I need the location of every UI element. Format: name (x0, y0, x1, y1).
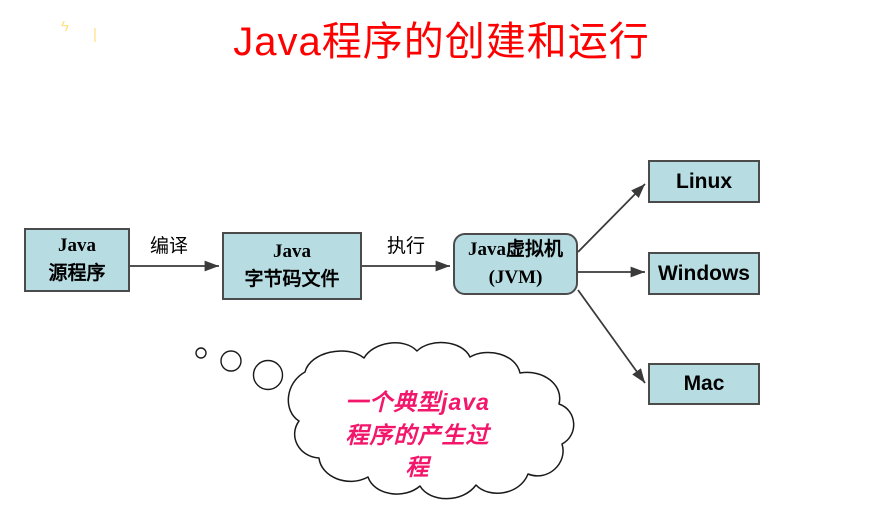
node-linux[interactable]: Linux (648, 160, 760, 203)
node-windows-label: Windows (658, 262, 750, 286)
node-mac-label: Mac (684, 372, 725, 396)
thought-bubble-small (196, 348, 206, 358)
node-java-source-line2: 源程序 (48, 260, 105, 288)
arrow-to-mac (578, 290, 645, 383)
node-linux-label: Linux (676, 170, 732, 194)
node-java-source-line1: Java (58, 232, 96, 260)
page-title: Java程序的创建和运行 (0, 20, 883, 64)
node-java-bytecode-line2: 字节码文件 (244, 266, 339, 294)
edge-label-compile: 编译 (150, 231, 188, 258)
cloud-callout-text: 一个典型java 程序的产生过 程 (300, 386, 535, 484)
slide-canvas: ϟ | Java程序的创建和运行 一个典型java 程序的产生过 程 (0, 0, 883, 527)
node-jvm-line1: Java虚拟机 (468, 236, 563, 264)
cloud-text-line-2: 程序的产生过 (300, 419, 535, 452)
node-java-bytecode-line1: Java (273, 238, 311, 266)
arrow-to-linux (578, 184, 645, 252)
node-windows[interactable]: Windows (648, 252, 760, 295)
node-mac[interactable]: Mac (648, 363, 760, 405)
node-java-bytecode[interactable]: Java 字节码文件 (222, 232, 362, 300)
node-java-source[interactable]: Java 源程序 (24, 228, 130, 292)
node-jvm-line2: (JVM) (489, 264, 543, 292)
edge-label-execute: 执行 (387, 231, 425, 258)
thought-bubble-large (254, 361, 283, 390)
thought-bubble-medium (221, 351, 241, 371)
cloud-text-line-3: 程 (300, 451, 535, 484)
cloud-text-line-1: 一个典型java (300, 386, 535, 419)
node-java-virtual-machine[interactable]: Java虚拟机 (JVM) (453, 233, 578, 295)
